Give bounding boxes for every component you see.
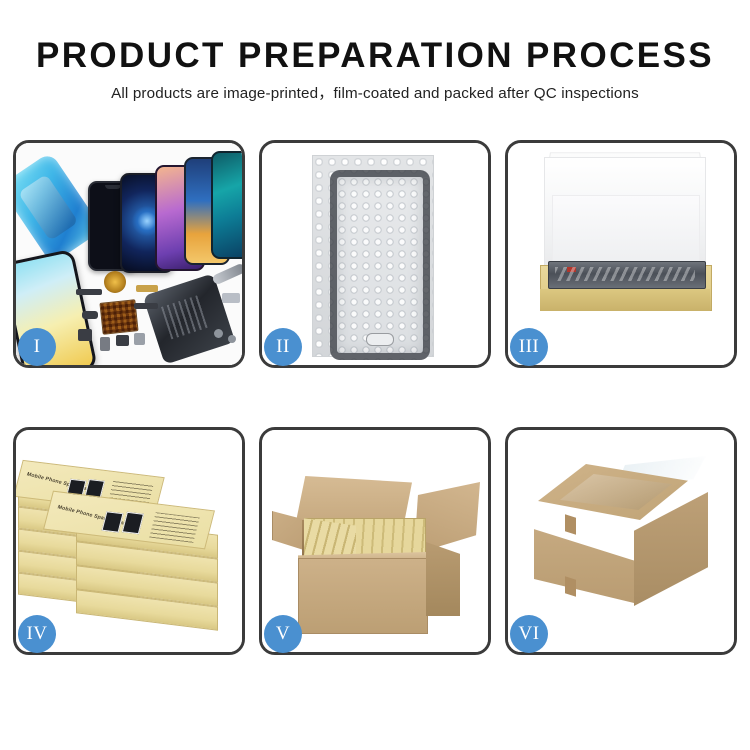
step-badge-4: IV — [18, 615, 56, 653]
step-badge-5: V — [264, 615, 302, 653]
process-step-grid: I II III — [13, 140, 737, 655]
page-title: PRODUCT PREPARATION PROCESS — [0, 34, 750, 78]
phone-display-teal — [211, 151, 242, 259]
process-step-4[interactable]: Mobile Phone Spare Parts Mobile Phone Sp… — [13, 427, 245, 655]
step-badge-6: VI — [510, 615, 548, 653]
step-badge-3: III — [510, 328, 548, 366]
carton-tape-upper — [565, 514, 576, 535]
step-3-image — [508, 143, 734, 365]
connector-grid — [99, 299, 138, 335]
product-preparation-infographic: PRODUCT PREPARATION PROCESS All products… — [0, 0, 750, 750]
process-step-6[interactable]: VI — [505, 427, 737, 655]
process-step-2[interactable]: II — [259, 140, 491, 368]
kraft-box-front — [540, 289, 710, 311]
step-1-image — [16, 143, 242, 365]
home-button-cutout — [366, 333, 394, 346]
carton-side-face — [426, 542, 460, 616]
step-badge-1: I — [18, 328, 56, 366]
step-4-image: Mobile Phone Spare Parts Mobile Phone Sp… — [16, 430, 242, 652]
wrapped-part-in-box — [548, 261, 706, 289]
header: PRODUCT PREPARATION PROCESS All products… — [0, 34, 750, 104]
step-6-image — [508, 430, 734, 652]
process-step-5[interactable]: V — [259, 427, 491, 655]
step-badge-2: II — [264, 328, 302, 366]
wrapped-phone-screen — [330, 170, 430, 360]
copper-coil-part — [104, 271, 126, 293]
process-step-3[interactable]: III — [505, 140, 737, 368]
step-2-image — [262, 143, 488, 365]
page-subtitle: All products are image-printed，film-coat… — [0, 84, 750, 104]
carton-front-face — [298, 558, 428, 634]
carton-front-face — [534, 508, 638, 604]
carton-tape-lower — [565, 576, 576, 597]
process-step-1[interactable]: I — [13, 140, 245, 368]
retail-box-stack: Mobile Phone Spare Parts Mobile Phone Sp… — [16, 430, 242, 652]
foam-padding — [552, 195, 700, 265]
step-5-image — [262, 430, 488, 652]
